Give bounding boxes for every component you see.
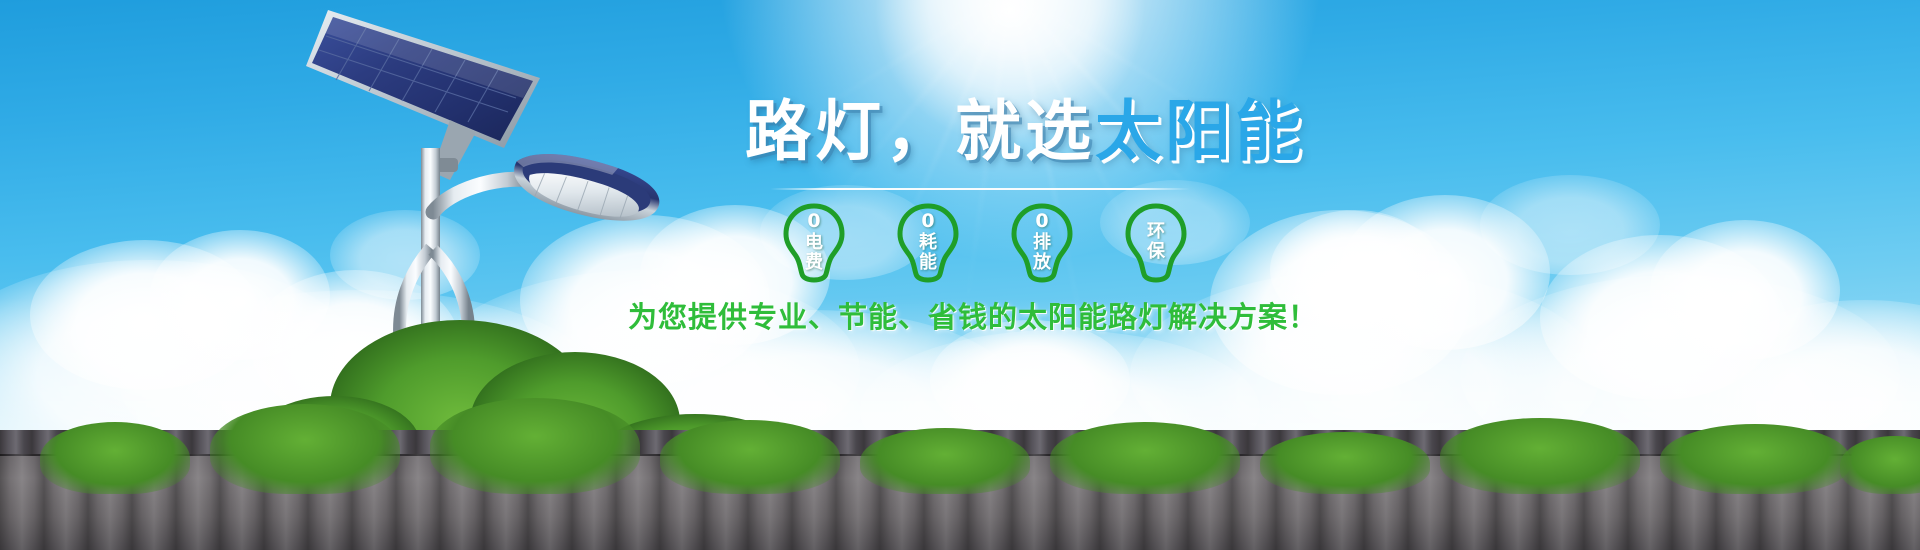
badge-label-line1: 电 [805,233,823,253]
headline-accent: 太阳能 [1095,93,1305,170]
headline-part1: 路灯，就选 [745,93,1095,170]
badge-label-line1: 耗 [919,233,937,253]
feature-badge-electricity-fee: 0 电 费 [770,198,858,286]
badge-label-line2: 保 [1147,242,1165,262]
feature-badge-eco-friendly: 环 保 [1112,198,1200,286]
badge-label-line2: 费 [805,253,823,273]
badge-label-line2: 放 [1033,253,1051,273]
feature-badge-list: 0 电 费 0 耗 能 0 [770,198,1200,288]
feature-badge-emissions: 0 排 放 [998,198,1086,286]
badge-zero-value: 0 [807,212,820,231]
badge-zero-value: 0 [921,212,934,231]
badge-label-line1: 环 [1147,222,1165,242]
badge-zero-value: 0 [1035,212,1048,231]
headline-divider [770,188,1190,190]
solar-street-light-banner: 路灯，就选太阳能 0 电 费 0 耗 能 [0,0,1920,550]
feature-badge-energy-use: 0 耗 能 [884,198,972,286]
badge-label-line1: 排 [1033,233,1051,253]
badge-label-line2: 能 [919,253,937,273]
headline: 路灯，就选太阳能 [745,98,1305,166]
